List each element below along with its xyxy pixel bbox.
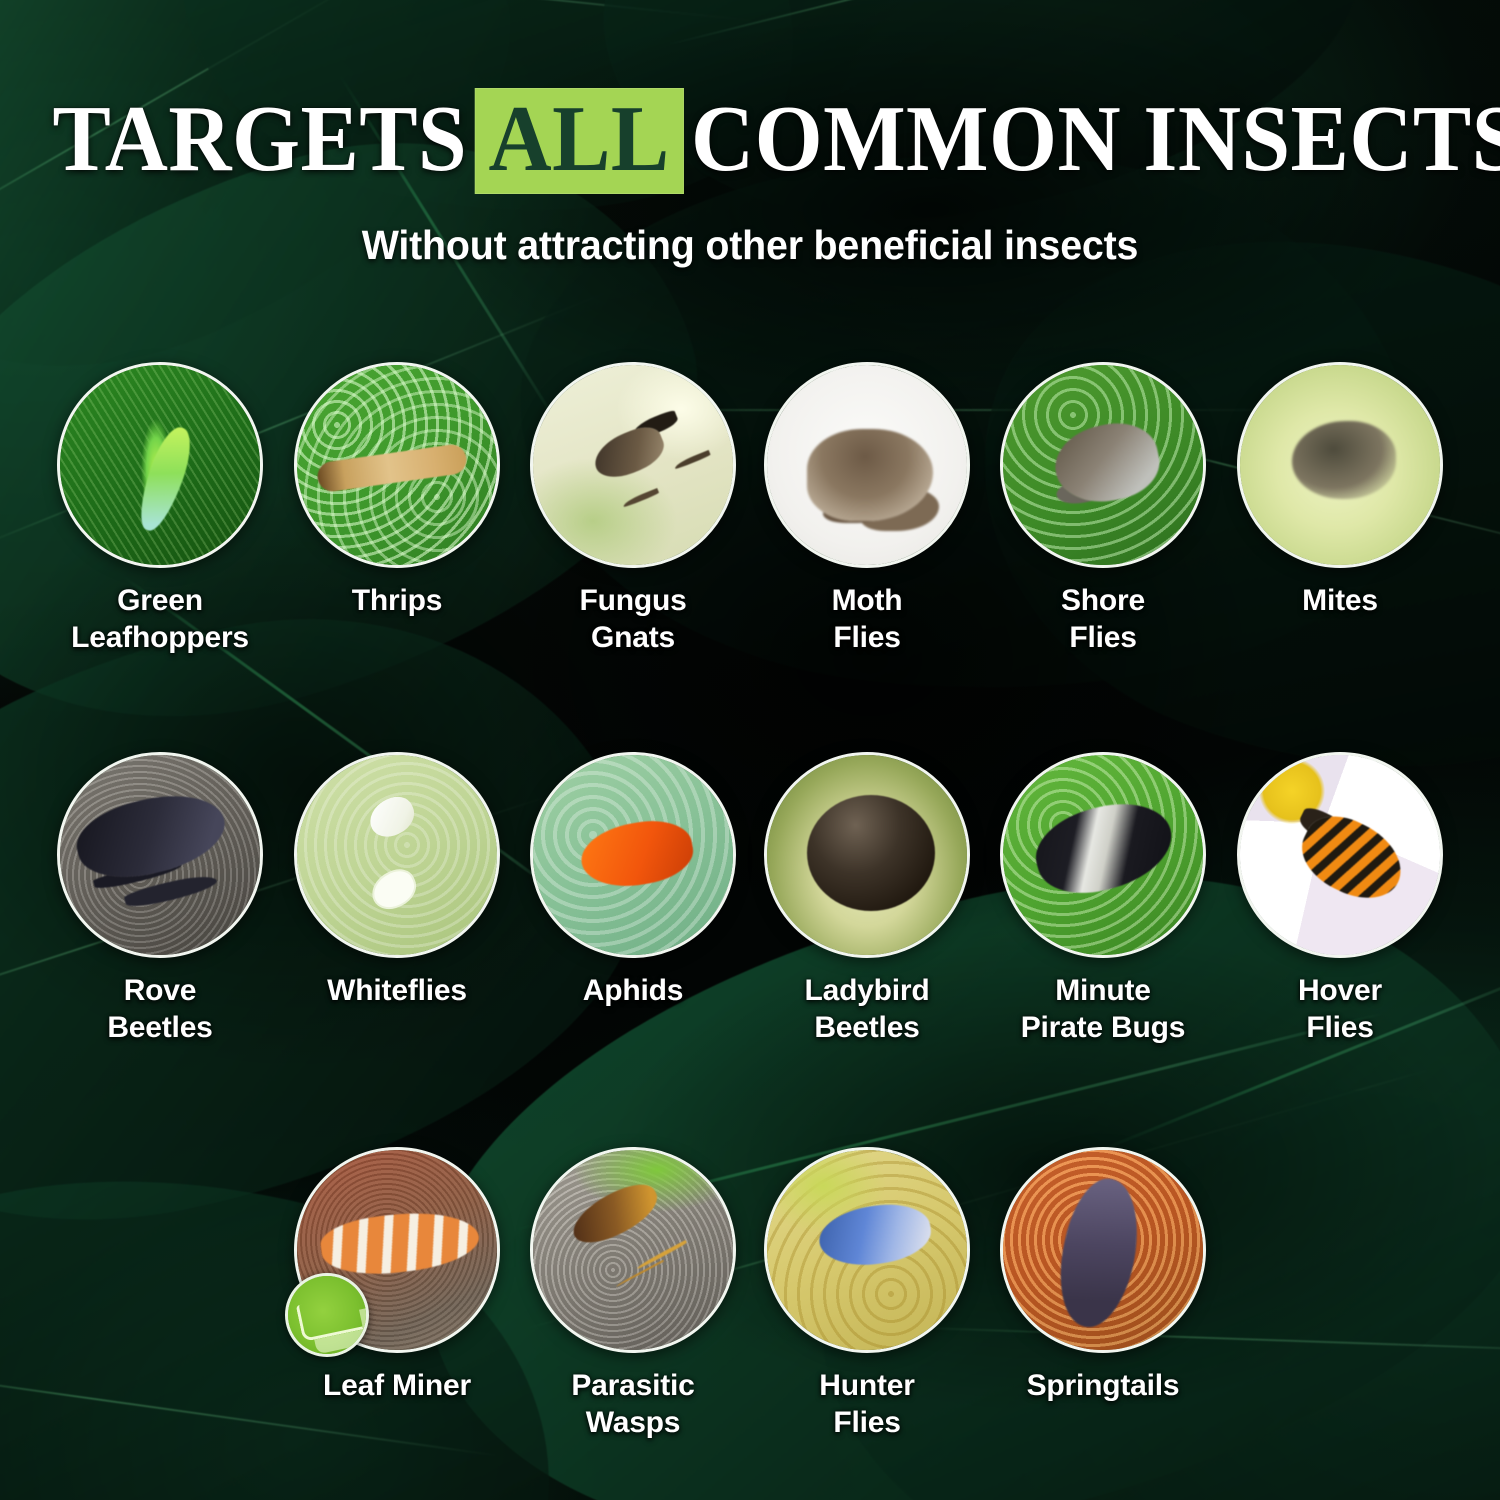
insect-label: Ladybird Beetles [749, 972, 985, 1046]
hover-fly-photo [1240, 755, 1440, 955]
insect-photo-circle[interactable] [294, 362, 500, 568]
fungus-gnat-photo [533, 365, 733, 565]
insect-card-whiteflies[interactable]: Whiteflies [279, 752, 515, 1009]
insect-label: Fungus Gnats [515, 582, 751, 656]
insect-card-green-leafhoppers[interactable]: Green Leafhoppers [42, 362, 278, 656]
insect-photo-circle[interactable] [764, 362, 970, 568]
insect-photo-circle[interactable] [1000, 1147, 1206, 1353]
hunter-fly-photo [767, 1150, 967, 1350]
rove-beetle-photo [60, 755, 260, 955]
insect-label-line1: Rove [42, 972, 278, 1009]
insect-label-line2: Beetles [42, 1009, 278, 1046]
insect-card-rove-beetles[interactable]: Rove Beetles [42, 752, 278, 1046]
insect-label-line2: Flies [1222, 1009, 1458, 1046]
insect-photo-circle[interactable] [764, 1147, 970, 1353]
insect-targets-poster: TARGETSALLCOMMON INSECTS Without attract… [0, 0, 1500, 1500]
insect-photo-circle[interactable] [57, 752, 263, 958]
insect-label-line2: Flies [749, 1404, 985, 1441]
insect-card-parasitic-wasps[interactable]: Parasitic Wasps [515, 1147, 751, 1441]
insect-label: Thrips [279, 582, 515, 619]
insect-label-line1: Parasitic [515, 1367, 751, 1404]
insect-label-line1: Minute [985, 972, 1221, 1009]
insect-card-minute-pirate-bugs[interactable]: Minute Pirate Bugs [985, 752, 1221, 1046]
insect-label-line1: Moth [749, 582, 985, 619]
insect-label: Mites [1222, 582, 1458, 619]
insect-label: Green Leafhoppers [42, 582, 278, 656]
insect-label: Minute Pirate Bugs [985, 972, 1221, 1046]
insect-photo-circle[interactable] [530, 752, 736, 958]
insect-photo-circle[interactable] [530, 1147, 736, 1353]
insect-label-line2: Gnats [515, 619, 751, 656]
insect-card-hunter-flies[interactable]: Hunter Flies [749, 1147, 985, 1441]
insect-label-line1: Hunter [749, 1367, 985, 1404]
insect-card-shore-flies[interactable]: Shore Flies [985, 362, 1221, 656]
insect-photo-circle[interactable] [1237, 362, 1443, 568]
insect-label-line1: Leaf Miner [279, 1367, 515, 1404]
insect-label: Hover Flies [1222, 972, 1458, 1046]
insect-label-line1: Shore [985, 582, 1221, 619]
aphid-photo [533, 755, 733, 955]
green-leafhopper-photo [60, 365, 260, 565]
insect-label: Aphids [515, 972, 751, 1009]
insect-label-line2: Flies [985, 619, 1221, 656]
insect-label: Whiteflies [279, 972, 515, 1009]
insect-photo-circle[interactable] [294, 752, 500, 958]
insect-label-line2: Leafhoppers [42, 619, 278, 656]
insect-grid: Green Leafhoppers Thrips Fungus Gnats [0, 0, 1500, 1500]
springtail-photo [1003, 1150, 1203, 1350]
insect-photo-circle[interactable] [530, 362, 736, 568]
mites-photo [1240, 365, 1440, 565]
insect-card-mites[interactable]: Mites [1222, 362, 1458, 619]
insect-card-ladybird-beetles[interactable]: Ladybird Beetles [749, 752, 985, 1046]
insect-photo-circle[interactable] [1000, 752, 1206, 958]
insect-label-line2: Flies [749, 619, 985, 656]
insect-label: Parasitic Wasps [515, 1367, 751, 1441]
minute-pirate-bug-photo [1003, 755, 1203, 955]
insect-photo-circle[interactable] [57, 362, 263, 568]
insect-card-leaf-miner[interactable]: Leaf Miner [279, 1147, 515, 1404]
moth-fly-photo [767, 365, 967, 565]
insect-label-line1: Whiteflies [279, 972, 515, 1009]
insect-label: Moth Flies [749, 582, 985, 656]
insect-label-line1: Mites [1222, 582, 1458, 619]
shore-fly-photo [1003, 365, 1203, 565]
insect-card-aphids[interactable]: Aphids [515, 752, 751, 1009]
insect-label-line1: Ladybird [749, 972, 985, 1009]
insect-label-line1: Aphids [515, 972, 751, 1009]
insect-label: Shore Flies [985, 582, 1221, 656]
insect-card-springtails[interactable]: Springtails [985, 1147, 1221, 1404]
insect-label-line2: Pirate Bugs [985, 1009, 1221, 1046]
insect-card-hover-flies[interactable]: Hover Flies [1222, 752, 1458, 1046]
insect-label-line2: Beetles [749, 1009, 985, 1046]
insect-card-fungus-gnats[interactable]: Fungus Gnats [515, 362, 751, 656]
thrips-photo [297, 365, 497, 565]
insect-label: Springtails [985, 1367, 1221, 1404]
insect-photo-circle[interactable] [764, 752, 970, 958]
whitefly-photo [297, 755, 497, 955]
ladybird-beetle-photo [767, 755, 967, 955]
insect-card-thrips[interactable]: Thrips [279, 362, 515, 619]
insect-label-line1: Green [42, 582, 278, 619]
insect-card-moth-flies[interactable]: Moth Flies [749, 362, 985, 656]
insect-label-line1: Springtails [985, 1367, 1221, 1404]
insect-photo-circle[interactable] [1000, 362, 1206, 568]
insect-label: Leaf Miner [279, 1367, 515, 1404]
insect-photo-circle[interactable] [1237, 752, 1443, 958]
leaf-miner-trail-inset-circle[interactable] [285, 1273, 369, 1357]
insect-label-line1: Fungus [515, 582, 751, 619]
leaf-miner-trail-photo [288, 1276, 366, 1354]
parasitic-wasp-photo [533, 1150, 733, 1350]
insect-label-line1: Hover [1222, 972, 1458, 1009]
insect-label-line2: Wasps [515, 1404, 751, 1441]
insect-label: Hunter Flies [749, 1367, 985, 1441]
insect-label: Rove Beetles [42, 972, 278, 1046]
insect-label-line1: Thrips [279, 582, 515, 619]
